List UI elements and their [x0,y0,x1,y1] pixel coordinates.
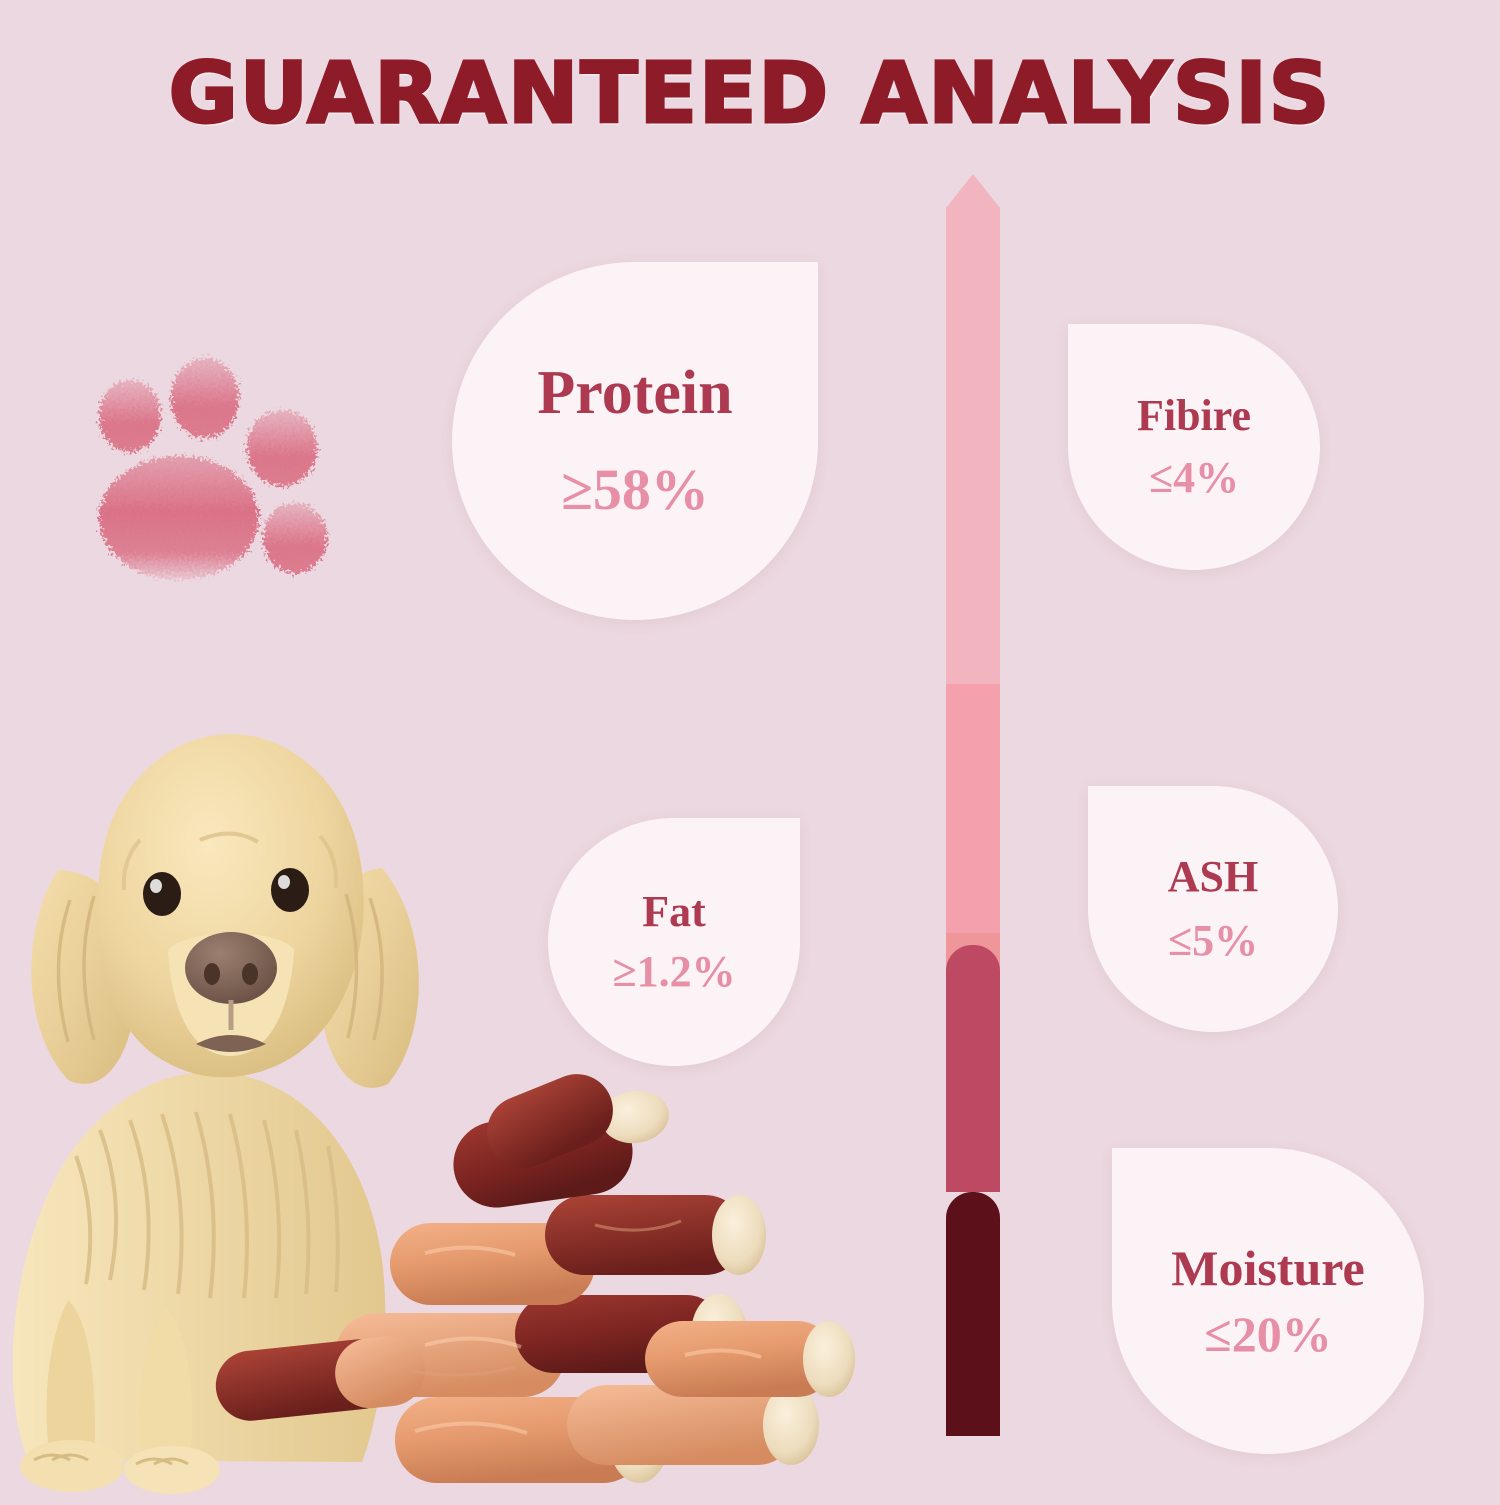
badge-fat-label: Fat [642,889,706,935]
meter-segment-maroon [946,1192,1000,1436]
badge-fat-value: ≥1.2% [612,949,735,995]
vertical-gradient-meter [946,174,1000,1436]
badge-fibire[interactable]: Fibire ≤4% [1068,324,1320,570]
badge-fibire-value: ≤4% [1149,455,1239,501]
badge-moisture-value: ≤20% [1204,1308,1331,1361]
badge-fat[interactable]: Fat ≥1.2% [548,818,800,1066]
badge-protein-value: ≥58% [561,460,709,521]
meter-segment-lightest [946,207,1000,685]
badge-ash-label: ASH [1168,854,1258,900]
chicken-wrapped-rawhide-stick-treats [215,1045,875,1505]
badge-moisture-label: Moisture [1171,1242,1364,1295]
meter-arrow-tip-icon [946,174,1000,208]
badge-protein[interactable]: Protein ≥58% [452,262,818,620]
badge-protein-label: Protein [537,361,732,426]
badge-fibire-label: Fibire [1137,393,1251,439]
badge-ash-value: ≤5% [1168,918,1258,964]
badge-moisture[interactable]: Moisture ≤20% [1112,1148,1424,1454]
meter-segment-crimson [946,945,1000,1192]
badge-ash[interactable]: ASH ≤5% [1088,786,1338,1032]
paw-print-icon [82,338,352,608]
meter-segment-light [946,684,1000,934]
page-title: GUARANTEED ANALYSIS [0,44,1500,142]
